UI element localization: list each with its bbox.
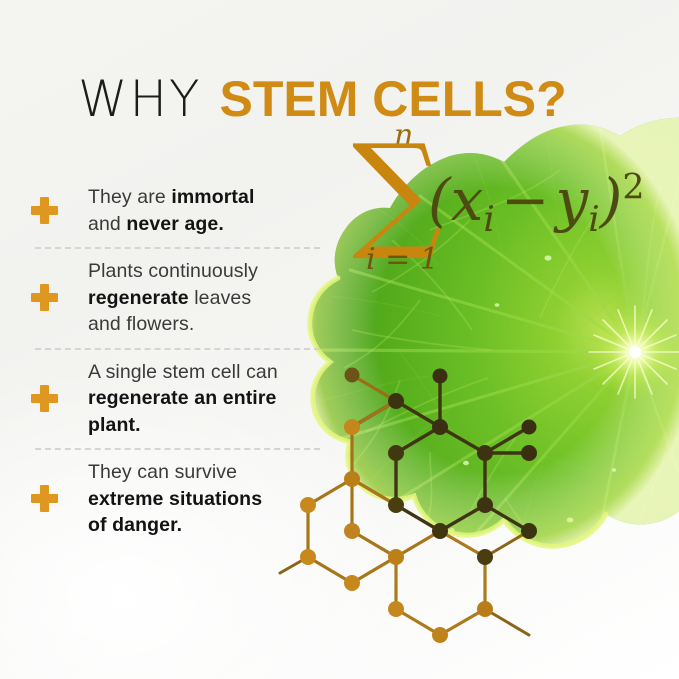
leaf-primary-veins: [322, 128, 679, 548]
list-divider: [35, 348, 320, 350]
sigma-group: n ∑ i = 1: [352, 118, 444, 276]
list-item: They can survive extreme situations of d…: [0, 453, 330, 546]
variable-y: y: [555, 166, 588, 234]
plus-icon: [31, 197, 58, 224]
variable-x: x: [451, 166, 484, 234]
exponent-two: 2: [622, 167, 644, 207]
plus-icon: [31, 385, 58, 412]
formula-expression: (xi−yi)2: [428, 166, 645, 240]
list-item-text: They can survive extreme situations of d…: [88, 459, 330, 539]
summation-formula: n ∑ i = 1 (xi−yi)2: [352, 118, 444, 276]
list-divider: [35, 247, 320, 249]
sigma-lower-limit: i = 1: [366, 242, 439, 277]
leaf-cell-texture: [318, 140, 679, 540]
open-paren: (: [428, 166, 451, 234]
list-divider: [35, 448, 320, 450]
plus-icon: [31, 485, 58, 512]
leaf-droplets: [449, 255, 616, 532]
minus-operator: −: [495, 166, 556, 234]
hexagon-middle-amber: [352, 401, 396, 505]
hexagon-nodes: [300, 368, 537, 644]
list-item-text: They are immortal and never age.: [88, 184, 330, 237]
bullet-icon-cell: [0, 197, 88, 224]
list-item: Plants continuously regenerate leaves an…: [0, 252, 330, 345]
hexagon-stubs-bottom: [280, 531, 529, 635]
hexagon-bottom: [396, 531, 485, 635]
subscript-x: i: [483, 199, 495, 240]
hexagon-upper-left-leg: [352, 375, 396, 401]
bullet-icon-cell: [0, 485, 88, 512]
close-paren: ): [600, 166, 623, 234]
list-item-text: A single stem cell can regenerate an ent…: [88, 359, 330, 439]
plus-icon: [31, 284, 58, 311]
title-why: WHY: [78, 70, 219, 128]
list-item: A single stem cell can regenerate an ent…: [0, 353, 330, 446]
infographic-poster: n ∑ i = 1 (xi−yi)2 WHY STEM CELLS? They …: [0, 0, 679, 679]
benefits-list: They are immortal and never age. Plants …: [0, 178, 330, 546]
leaf-secondary-veins: [344, 170, 672, 546]
title-stem-cells: STEM CELLS?: [219, 71, 566, 127]
leaf-blade: [300, 100, 679, 560]
list-item: They are immortal and never age.: [0, 178, 330, 244]
hexagon-upper: [352, 376, 529, 531]
page-title: WHY STEM CELLS?: [78, 72, 567, 127]
bullet-icon-cell: [0, 284, 88, 311]
leaf-edge-highlight: [310, 278, 606, 546]
sigma-operator-icon: ∑: [352, 136, 442, 246]
leaf-center-starburst: [589, 306, 679, 398]
leaf-shape-group: [280, 100, 679, 643]
bullet-icon-cell: [0, 385, 88, 412]
list-item-text: Plants continuously regenerate leaves an…: [88, 258, 330, 338]
subscript-y: i: [588, 199, 600, 240]
